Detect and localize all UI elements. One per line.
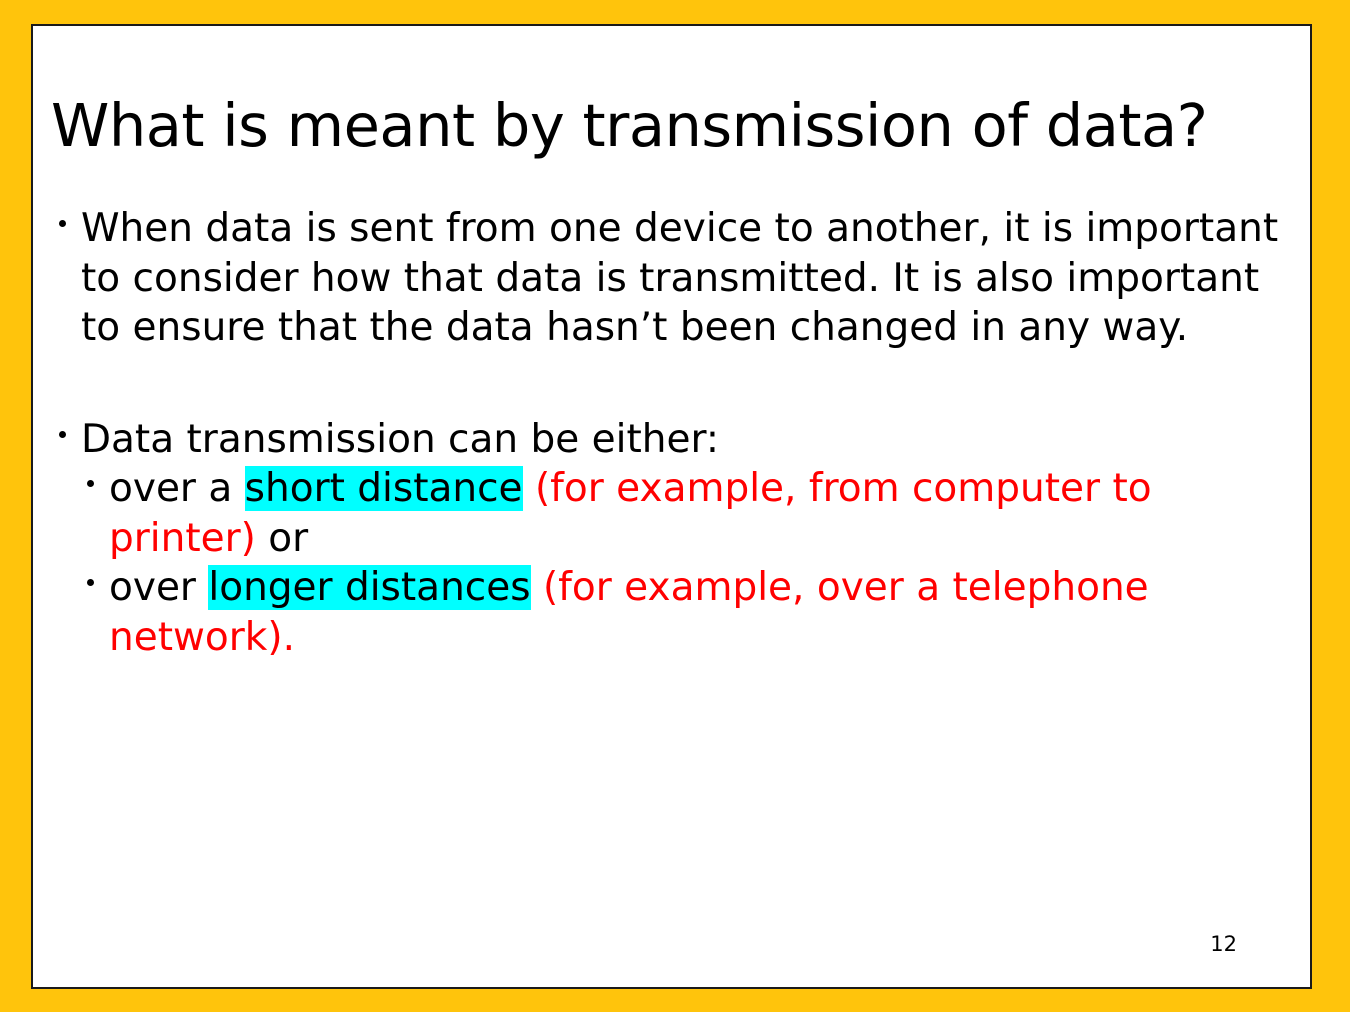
paragraph-spacer (51, 353, 1309, 415)
bullet-paragraph-1-text: When data is sent from one device to ano… (81, 206, 1278, 350)
sub-bullet-suffix: or (268, 516, 308, 561)
highlighted-term-longer-distances: longer distances (208, 565, 530, 610)
bullet-paragraph-2-lead: Data transmission can be either: (51, 415, 1309, 465)
slide-canvas: What is meant by transmission of data? W… (31, 24, 1312, 989)
page-number: 12 (1210, 932, 1237, 956)
slide-frame: What is meant by transmission of data? W… (0, 0, 1350, 1012)
bullet-paragraph-1: When data is sent from one device to ano… (51, 204, 1309, 353)
bullet-paragraph-2-lead-text: Data transmission can be either: (81, 417, 719, 462)
slide-body: When data is sent from one device to ano… (51, 204, 1309, 662)
sub-bullet-prefix: over (109, 565, 208, 610)
sub-bullet-prefix: over a (109, 466, 245, 511)
bullet-dot-icon (59, 220, 66, 227)
page-title: What is meant by transmission of data? (51, 94, 1301, 158)
bullet-dot-icon (59, 431, 66, 438)
bullet-dot-icon (87, 579, 94, 586)
highlighted-term-short-distance: short distance (245, 466, 523, 511)
sub-bullet-short-distance: over a short distance (for example, from… (51, 464, 1309, 563)
sub-bullet-longer-distances: over longer distances (for example, over… (51, 563, 1309, 662)
bullet-dot-icon (87, 480, 94, 487)
